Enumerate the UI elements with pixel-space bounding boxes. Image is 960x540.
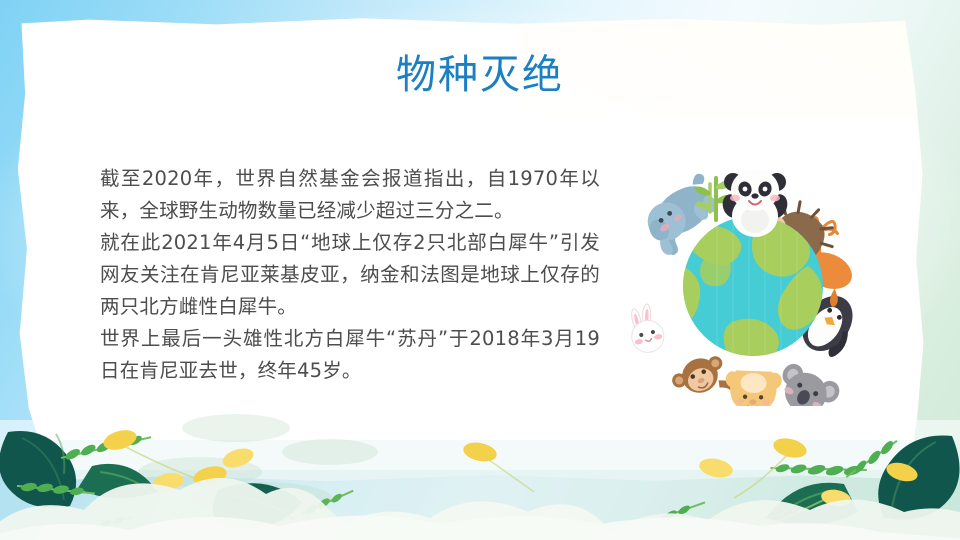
slide-canvas: 物种灭绝 截至2020年，世界自然基金会报道指出，自1970年以来，全球野生动物… [0, 0, 960, 540]
body-paragraph: 截至2020年，世界自然基金会报道指出，自1970年以来，全球野生动物数量已经减… [100, 163, 600, 387]
globe-graphic [660, 216, 823, 365]
koala-icon [770, 359, 853, 406]
page-title: 物种灭绝 [0, 52, 960, 98]
rabbit-icon [624, 301, 667, 356]
earth-with-animals-illustration [612, 158, 894, 406]
lion-cub-icon [725, 370, 782, 406]
